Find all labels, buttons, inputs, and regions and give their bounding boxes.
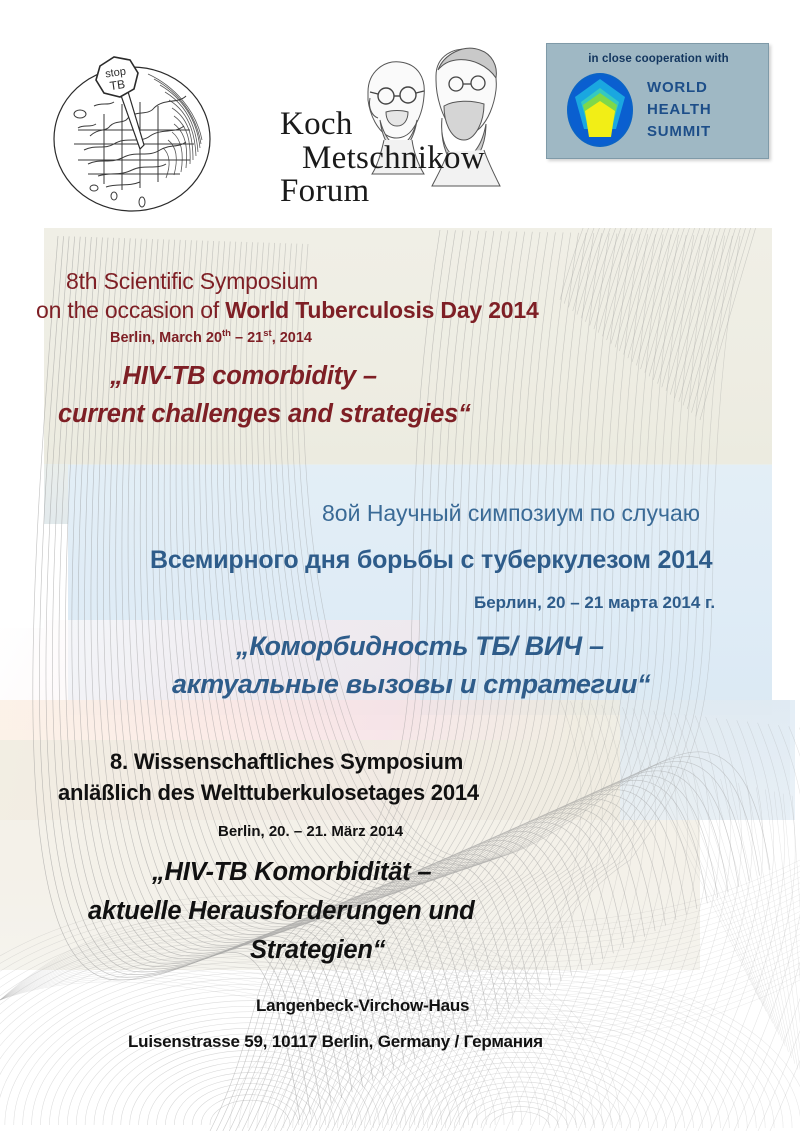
english-date-prefix: Berlin, March 20 bbox=[110, 330, 222, 346]
poster-canvas: stop TB bbox=[0, 0, 800, 1131]
english-date-suffix: , 2014 bbox=[272, 330, 312, 346]
english-theme-line-1: „HIV-TB comorbidity – bbox=[110, 362, 377, 391]
kmf-line-1: Koch bbox=[280, 108, 485, 142]
whs-word-3: SUMMIT bbox=[647, 121, 712, 143]
russian-theme-line-2: актуальные вызовы и стратегии“ bbox=[172, 669, 650, 700]
english-theme-line-2: current challenges and strategies“ bbox=[58, 400, 471, 429]
russian-date-line: Берлин, 20 – 21 марта 2014 г. bbox=[474, 593, 715, 613]
german-theme-line-2: aktuelle Herausforderungen und bbox=[88, 897, 475, 926]
german-theme-line-3: Strategien“ bbox=[250, 936, 385, 965]
poster-header: stop TB bbox=[0, 0, 800, 228]
german-occasion-line: anläßlich des Welttuberkulosetages 2014 bbox=[58, 780, 479, 806]
english-date-sup-2: st bbox=[263, 328, 271, 339]
russian-occasion-line: Всемирного дня борьбы с туберкулезом 201… bbox=[150, 546, 712, 575]
russian-theme-line-1: „Коморбидность ТБ/ ВИЧ – bbox=[236, 631, 604, 662]
english-symposium-line: 8th Scientific Symposium bbox=[66, 268, 318, 295]
english-date-line: Berlin, March 20th – 21st, 2014 bbox=[110, 328, 312, 346]
kmf-line-2: Metschnikow bbox=[302, 142, 485, 176]
english-occasion-prefix: on the occasion of bbox=[36, 297, 225, 323]
english-date-sup-1: th bbox=[222, 328, 231, 339]
english-occasion-line: on the occasion of World Tuberculosis Da… bbox=[36, 297, 539, 324]
stop-tb-globe-icon: stop TB bbox=[44, 44, 224, 219]
german-theme-line-1: „HIV-TB Komorbidität – bbox=[152, 858, 431, 887]
venue-address: Luisenstrasse 59, 10117 Berlin, Germany … bbox=[128, 1032, 543, 1052]
german-date-line: Berlin, 20. – 21. März 2014 bbox=[218, 823, 403, 840]
german-symposium-line: 8. Wissenschaftliches Symposium bbox=[110, 749, 463, 775]
venue-name: Langenbeck-Virchow-Haus bbox=[256, 996, 469, 1016]
stop-tb-sign-line2: TB bbox=[109, 77, 126, 93]
kmf-line-3: Forum bbox=[280, 175, 485, 209]
cooperation-label: in close cooperation with bbox=[547, 53, 770, 65]
kmf-wordmark: Koch Metschnikow Forum bbox=[280, 108, 485, 209]
whs-word-2: HEALTH bbox=[647, 99, 712, 121]
world-health-summit-logo-icon bbox=[563, 71, 637, 149]
world-health-summit-wordmark: WORLD HEALTH SUMMIT bbox=[647, 77, 712, 142]
whs-word-1: WORLD bbox=[647, 77, 712, 99]
english-occasion-emphasis: World Tuberculosis Day 2014 bbox=[225, 297, 538, 323]
english-date-mid: – 21 bbox=[231, 330, 263, 346]
russian-symposium-line: 8ой Научный симпозиум по случаю bbox=[322, 500, 700, 527]
world-health-summit-badge[interactable]: in close cooperation with WORLD HEALTH S… bbox=[546, 43, 769, 159]
